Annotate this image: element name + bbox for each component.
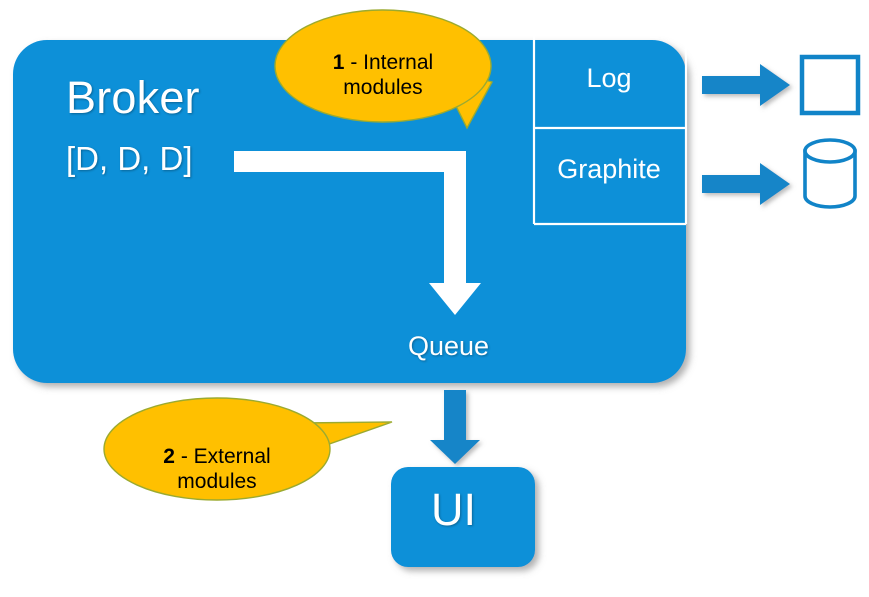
graphite-to-database-arrow	[702, 163, 790, 205]
callout-1-separator: -	[344, 51, 363, 74]
callout-1-number: 1	[333, 51, 345, 74]
callout-2-label: 2 - External modules	[106, 418, 328, 495]
broker-title: Broker	[66, 74, 200, 121]
diagram-canvas: Broker [D, D, D] Queue Log Graphite UI 1…	[0, 0, 869, 597]
broker-subtitle: [D, D, D]	[66, 142, 193, 177]
log-to-file-arrow	[702, 64, 790, 106]
ui-label: UI	[431, 486, 476, 533]
queue-label: Queue	[408, 332, 489, 360]
callout-1-label: 1 - Internal modules	[276, 24, 490, 101]
callout-2-separator: -	[175, 445, 194, 468]
file-store-icon[interactable]	[802, 57, 858, 113]
database-store-icon[interactable]	[805, 140, 855, 207]
module-label-log: Log	[533, 64, 685, 92]
callout-2-number: 2	[163, 445, 175, 468]
module-label-graphite: Graphite	[533, 155, 685, 183]
queue-to-ui-arrow	[430, 390, 480, 464]
